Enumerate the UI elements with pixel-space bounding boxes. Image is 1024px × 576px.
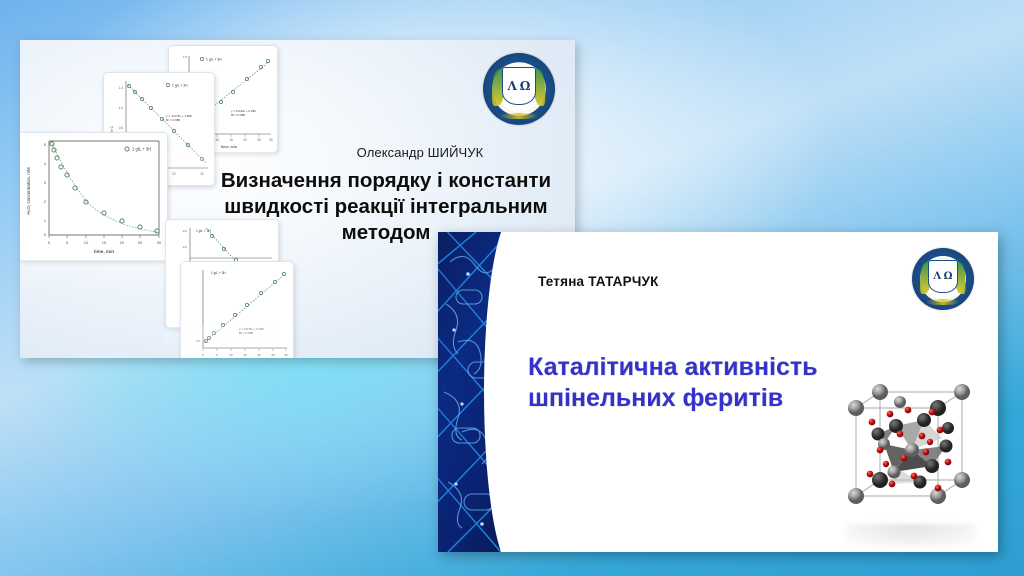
spinel-crystal-structure-icon [834,374,984,524]
university-emblem: Λ Ω [912,248,974,310]
svg-text:0.0: 0.0 [196,339,201,343]
presentation-background: 0510 152025 30 time, min 1 g/L + 3H y [0,0,1024,576]
svg-text:20: 20 [257,353,261,357]
chart-left-decay: 543 210 H₂O₂ concentration, mM 0510 1520… [20,132,168,261]
svg-text:15: 15 [102,240,107,245]
svg-text:25: 25 [271,353,275,357]
crystal-reflection [846,524,976,546]
svg-text:0.6: 0.6 [119,126,124,130]
svg-text:20: 20 [172,172,176,176]
svg-text:10: 10 [229,353,233,357]
emblem-letter-omega: Ω [944,271,953,282]
svg-text:15: 15 [243,353,247,357]
svg-text:1 g/L + 3H: 1 g/L + 3H [172,84,188,88]
slide-2-author: Тетяна ТАТАРЧУК [538,274,659,289]
svg-text:time, min: time, min [94,249,114,254]
svg-text:30: 30 [284,353,288,357]
svg-text:H₂O₂ concentration, mM: H₂O₂ concentration, mM [26,167,31,215]
svg-text:10: 10 [215,138,219,142]
svg-text:-0.2: -0.2 [182,229,188,233]
circuit-pattern-sidebar [438,232,516,552]
university-emblem: Λ Ω [483,53,555,125]
svg-text:20: 20 [243,138,247,142]
svg-text:30: 30 [157,240,162,245]
svg-text:1.4: 1.4 [119,86,124,90]
svg-text:1.0: 1.0 [119,106,124,110]
chart-bottom-right-increase: 0.0 0510 152025 30 time, min [180,261,294,358]
svg-text:1.6: 1.6 [183,55,188,59]
svg-text:-0.4: -0.4 [182,245,188,249]
chart-reflection [20,259,166,293]
svg-text:R² = 0.989: R² = 0.989 [166,118,180,122]
svg-text:R² = 0.995: R² = 0.995 [239,331,253,335]
svg-text:30: 30 [269,138,273,142]
svg-text:1 g/L + 3H: 1 g/L + 3H [132,147,151,152]
svg-text:1 g/L + 3H: 1 g/L + 3H [206,58,222,62]
emblem-shield: Λ Ω [502,67,537,104]
emblem-band [926,299,961,305]
svg-text:R² = 0.980: R² = 0.980 [231,113,245,117]
svg-text:15: 15 [229,138,233,142]
emblem-band [499,113,539,119]
emblem-letter-lambda: Λ [508,79,517,93]
svg-text:25: 25 [257,138,261,142]
slide-2[interactable]: Λ Ω Тетяна ТАТАРЧУК Каталітична активніс… [438,232,998,552]
circuit-pattern-icon [438,232,516,552]
emblem-letter-omega: Ω [520,79,531,93]
svg-text:20: 20 [120,240,125,245]
svg-text:time, min: time, min [221,145,237,149]
emblem-shield: Λ Ω [928,260,958,292]
slide-1-author: Олександр ШИЙЧУК [275,145,565,160]
svg-text:10: 10 [84,240,89,245]
svg-text:1 g/L + 3H: 1 g/L + 3H [211,271,226,275]
emblem-letter-lambda: Λ [933,271,941,282]
svg-text:25: 25 [138,240,143,245]
